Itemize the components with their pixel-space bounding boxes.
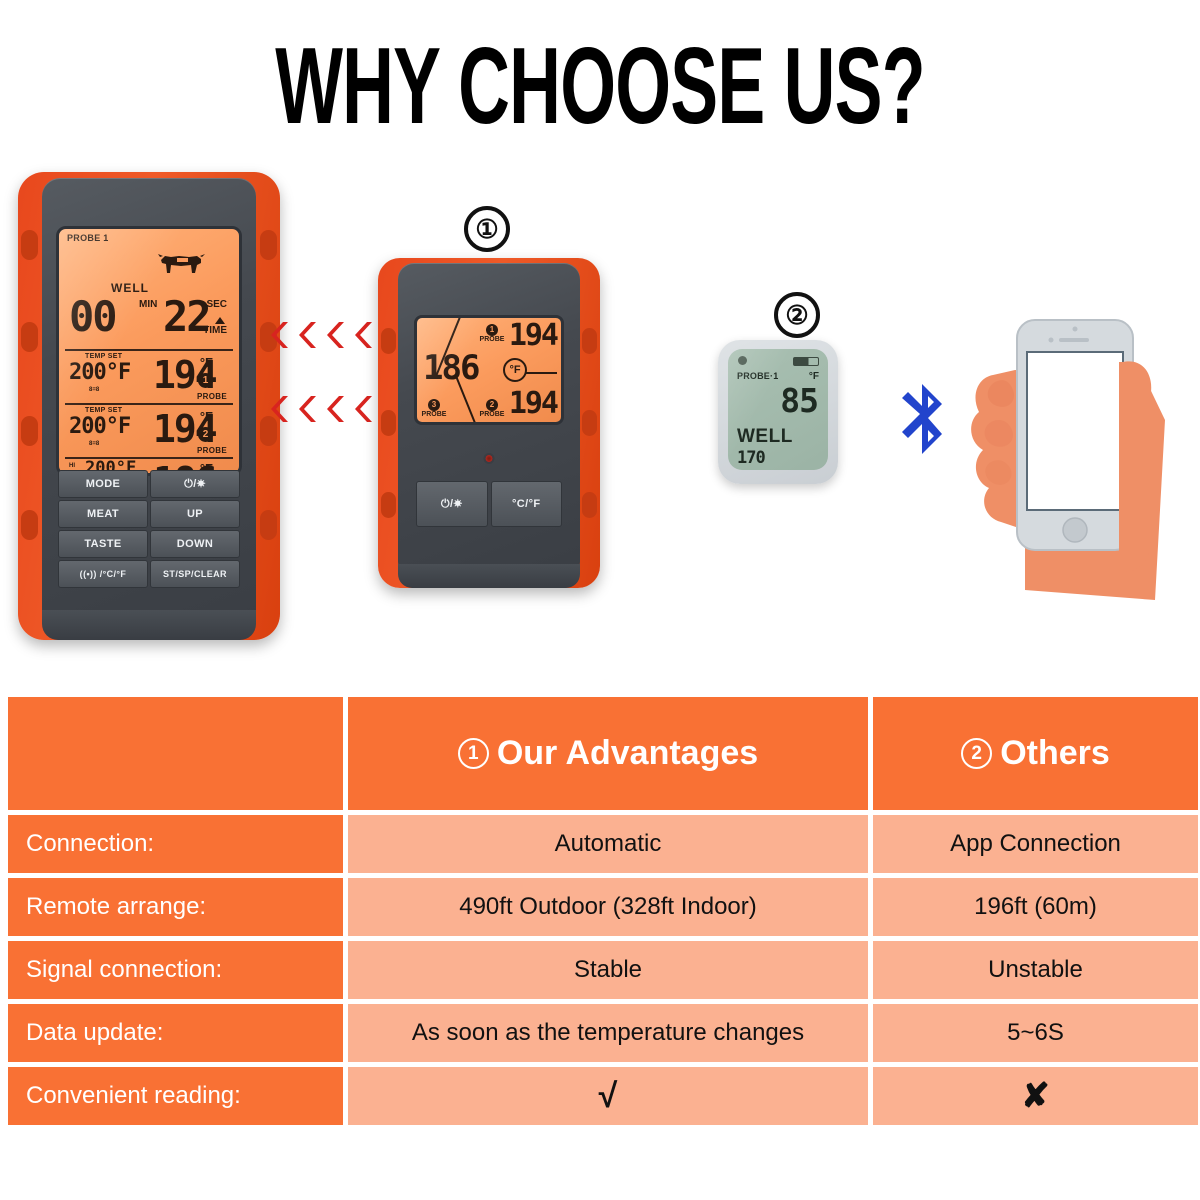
transmitter-grip-right-3 bbox=[582, 492, 597, 518]
table-header-others-label: Others bbox=[1000, 734, 1110, 773]
circled-one-icon: 1 bbox=[458, 738, 489, 769]
lcd-probe-row-1: TEMP SET 200°F 8=8 194 °F 1 PROBE bbox=[67, 351, 231, 403]
table-row: Signal connection: Stable Unstable bbox=[8, 941, 1192, 999]
lcd-doneness-label: WELL bbox=[111, 281, 149, 295]
cow-icon bbox=[155, 251, 207, 277]
table-header-others: 2 Others bbox=[873, 697, 1198, 810]
lcd-time-label: TIME bbox=[203, 325, 227, 336]
table-row: Connection: Automatic App Connection bbox=[8, 815, 1192, 873]
tx-probe3-value: 186 bbox=[423, 350, 478, 386]
transmitter-base bbox=[398, 564, 580, 588]
badge-two: ② bbox=[774, 292, 820, 338]
lcd-set-sub-2: 8=8 bbox=[89, 441, 99, 447]
lcd-divider-diagonal-top bbox=[435, 315, 463, 377]
lcd-set-sub-1: 8=8 bbox=[89, 387, 99, 393]
signal-unit-button[interactable]: ((•)) /°C/°F bbox=[58, 560, 148, 588]
badge-one: ① bbox=[464, 206, 510, 252]
table-row: Convenient reading: √ ✘ bbox=[8, 1067, 1192, 1125]
competitor-lcd-screen: PROBE·1 °F 85 WELL 170 bbox=[728, 349, 828, 470]
row-label-connection: Connection: bbox=[8, 815, 343, 873]
tx-probe3-number: 3 bbox=[428, 399, 440, 411]
power-light-button[interactable]: ⏻/☀ bbox=[416, 481, 488, 527]
tx-probe1-marker: 1 PROBE bbox=[479, 324, 505, 343]
chevron-left-icon bbox=[324, 393, 350, 425]
comparison-table: 1 Our Advantages 2 Others Connection: Au… bbox=[8, 697, 1192, 1130]
down-button[interactable]: DOWN bbox=[150, 530, 240, 558]
wireless-transmitter-device: 186 194 194 °F 1 PROBE 3 PROBE 2 PROBE bbox=[378, 258, 600, 588]
receiver-keypad: MODE ⏻/☀ MEAT UP TASTE DOWN ((•)) /°C/°F… bbox=[58, 470, 240, 588]
up-button[interactable]: UP bbox=[150, 500, 240, 528]
infographic-page: WHY CHOOSE US? PROBE 1 WELL 00 MIN bbox=[0, 0, 1200, 1200]
taste-button[interactable]: TASTE bbox=[58, 530, 148, 558]
lcd-probe-number-2: 2 bbox=[198, 427, 213, 442]
lcd-probe-label: PROBE 1 bbox=[67, 233, 109, 243]
lcd-divider-horizontal bbox=[525, 372, 557, 374]
row-label-signal-connection: Signal connection: bbox=[8, 941, 343, 999]
smartphone-in-hand-icon bbox=[955, 300, 1185, 600]
table-row: Data update: As soon as the temperature … bbox=[8, 1004, 1192, 1062]
receiver-grip-left-3 bbox=[21, 416, 38, 446]
lcd-sec-label: SEC bbox=[206, 299, 227, 310]
table-header-row: 1 Our Advantages 2 Others bbox=[8, 697, 1192, 810]
tx-probe2-label: PROBE bbox=[480, 411, 505, 418]
meat-button[interactable]: MEAT bbox=[58, 500, 148, 528]
tx-probe1-number: 1 bbox=[486, 324, 498, 336]
tx-probe2-marker: 2 PROBE bbox=[479, 399, 505, 418]
row-others-connection: App Connection bbox=[873, 815, 1198, 873]
chevron-left-icon bbox=[268, 393, 294, 425]
lcd-temp-unit-2: °F bbox=[200, 409, 213, 424]
circled-two-icon: 2 bbox=[961, 738, 992, 769]
row-ours-convenient-reading: √ bbox=[348, 1067, 868, 1125]
table-header-ours: 1 Our Advantages bbox=[348, 697, 868, 810]
row-ours-remote-arrange: 490ft Outdoor (328ft Indoor) bbox=[348, 878, 868, 936]
row-others-remote-arrange: 196ft (60m) bbox=[873, 878, 1198, 936]
lcd-set-label-1: TEMP SET bbox=[85, 353, 122, 360]
row-ours-data-update: As soon as the temperature changes bbox=[348, 1004, 868, 1062]
chevron-left-icon bbox=[352, 319, 378, 351]
signal-arrows-top bbox=[268, 318, 384, 352]
tx-probe2-number: 2 bbox=[486, 399, 498, 411]
receiver-lcd-screen: PROBE 1 WELL 00 MIN 22 SEC TIME bbox=[56, 226, 242, 476]
competitor-temp-value: 85 bbox=[780, 383, 818, 418]
chevron-left-icon bbox=[296, 319, 322, 351]
transmitter-lcd-screen: 186 194 194 °F 1 PROBE 3 PROBE 2 PROBE bbox=[414, 315, 564, 425]
competitor-target-value: 170 bbox=[737, 449, 765, 468]
lcd-set-label-2: TEMP SET bbox=[85, 407, 122, 414]
table-header-blank bbox=[8, 697, 343, 810]
receiver-grip-left-1 bbox=[21, 230, 38, 260]
tx-probe2-value: 194 bbox=[509, 388, 557, 420]
lcd-divider-diagonal-bottom bbox=[455, 376, 480, 425]
row-ours-signal-connection: Stable bbox=[348, 941, 868, 999]
row-label-convenient-reading: Convenient reading: bbox=[8, 1067, 343, 1125]
receiver-grip-left-4 bbox=[21, 510, 38, 540]
battery-icon bbox=[793, 357, 819, 366]
table-row: Remote arrange: 490ft Outdoor (328ft Ind… bbox=[8, 878, 1192, 936]
lcd-probe-row-2: TEMP SET 200°F 8=8 194 °F 2 PROBE bbox=[67, 405, 231, 457]
row-label-remote-arrange: Remote arrange: bbox=[8, 878, 343, 936]
transmitter-grip-left-1 bbox=[381, 328, 396, 354]
tx-unit-badge: °F bbox=[503, 358, 527, 382]
receiver-grip-left-2 bbox=[21, 322, 38, 352]
tx-probe3-label: PROBE bbox=[422, 411, 447, 418]
page-title: WHY CHOOSE US? bbox=[132, 32, 1068, 141]
wireless-receiver-device: PROBE 1 WELL 00 MIN 22 SEC TIME bbox=[18, 172, 280, 640]
power-led-icon bbox=[484, 453, 495, 464]
lcd-timer-row: 00 MIN 22 SEC TIME bbox=[67, 295, 231, 347]
transmitter-grip-right-1 bbox=[582, 328, 597, 354]
lcd-probe-number-1: 1 bbox=[198, 373, 213, 388]
lcd-probe-word-2: PROBE bbox=[197, 446, 227, 455]
start-stop-clear-button[interactable]: ST/SP/CLEAR bbox=[150, 560, 240, 588]
transmitter-keypad: ⏻/☀ °C/°F bbox=[416, 481, 562, 527]
bluetooth-icon bbox=[898, 380, 954, 476]
tx-probe3-marker: 3 PROBE bbox=[421, 399, 447, 418]
chevron-left-icon bbox=[268, 319, 294, 351]
row-others-data-update: 5~6S bbox=[873, 1004, 1198, 1062]
signal-arrows-bottom bbox=[268, 392, 384, 426]
lcd-min-label: MIN bbox=[139, 299, 157, 310]
competitor-device: PROBE·1 °F 85 WELL 170 bbox=[718, 340, 838, 484]
receiver-grip-right-1 bbox=[260, 230, 277, 260]
chevron-left-icon bbox=[324, 319, 350, 351]
row-ours-connection: Automatic bbox=[348, 815, 868, 873]
receiver-grip-right-4 bbox=[260, 510, 277, 540]
row-others-signal-connection: Unstable bbox=[873, 941, 1198, 999]
power-light-button[interactable]: ⏻/☀ bbox=[150, 470, 240, 498]
status-dot-icon bbox=[738, 356, 747, 365]
lcd-time-arrow-icon bbox=[215, 317, 225, 324]
lcd-set-value-1: 200°F bbox=[69, 361, 130, 385]
tx-probe1-value: 194 bbox=[509, 320, 557, 352]
transmitter-grip-left-2 bbox=[381, 410, 396, 436]
lcd-temp-unit-1: °F bbox=[200, 355, 213, 370]
chevron-left-icon bbox=[352, 393, 378, 425]
lcd-probe-word-1: PROBE bbox=[197, 392, 227, 401]
row-others-convenient-reading: ✘ bbox=[873, 1067, 1198, 1125]
lcd-hi-tag: HI bbox=[69, 463, 75, 469]
receiver-body: PROBE 1 WELL 00 MIN 22 SEC TIME bbox=[42, 178, 256, 628]
competitor-doneness-label: WELL bbox=[737, 426, 793, 448]
transmitter-body: 186 194 194 °F 1 PROBE 3 PROBE 2 PROBE bbox=[398, 263, 580, 578]
tx-probe1-label: PROBE bbox=[480, 336, 505, 343]
chevron-left-icon bbox=[296, 393, 322, 425]
table-header-ours-label: Our Advantages bbox=[497, 734, 758, 773]
lcd-set-value-2: 200°F bbox=[69, 415, 130, 439]
lcd-timer-minutes: 00 bbox=[69, 295, 116, 339]
transmitter-grip-left-3 bbox=[381, 492, 396, 518]
mode-button[interactable]: MODE bbox=[58, 470, 148, 498]
competitor-probe-label: PROBE·1 bbox=[737, 371, 778, 381]
transmitter-grip-right-2 bbox=[582, 410, 597, 436]
unit-toggle-button[interactable]: °C/°F bbox=[491, 481, 563, 527]
row-label-data-update: Data update: bbox=[8, 1004, 343, 1062]
receiver-base bbox=[42, 610, 256, 640]
